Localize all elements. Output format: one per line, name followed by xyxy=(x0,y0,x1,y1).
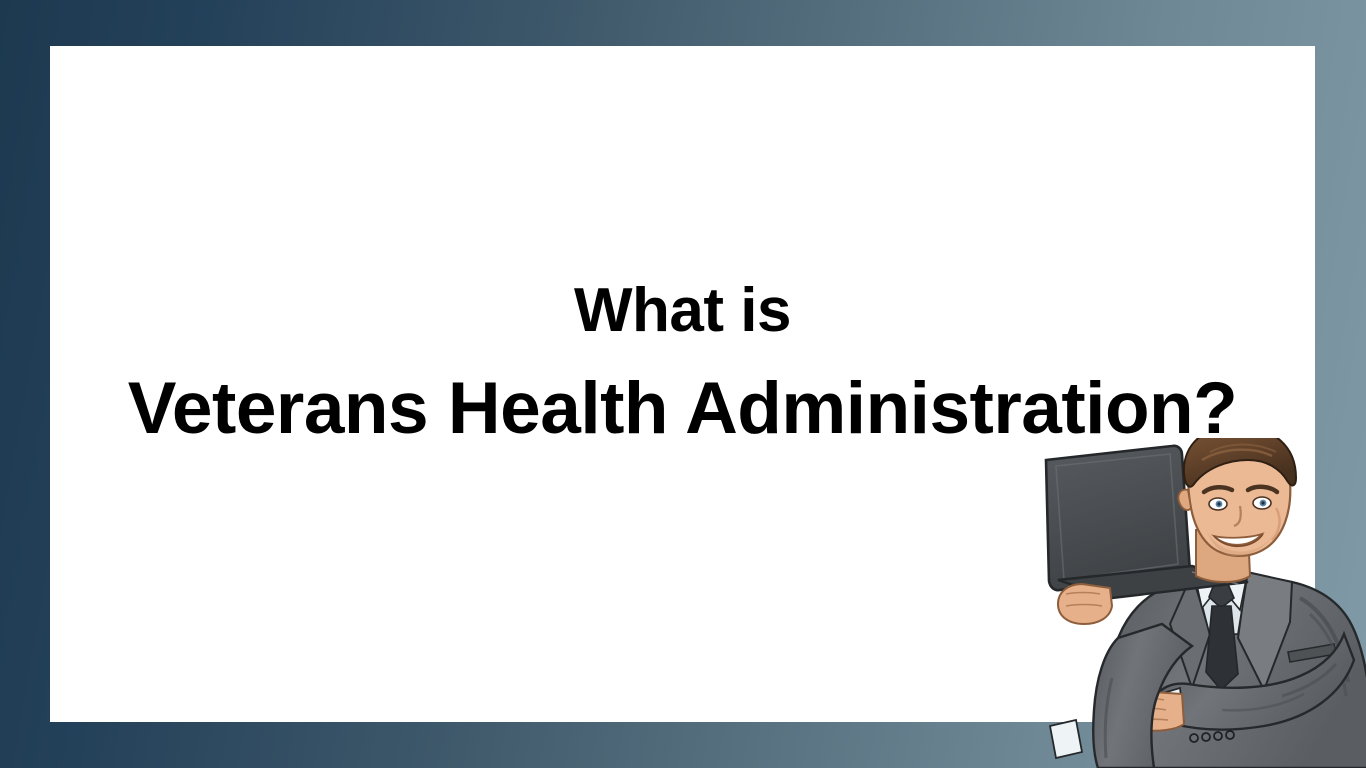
slide-canvas: What is Veterans Health Administration? xyxy=(0,0,1366,768)
left-hand xyxy=(1058,584,1112,624)
businessman-holding-laptop-illustration xyxy=(1042,438,1366,768)
